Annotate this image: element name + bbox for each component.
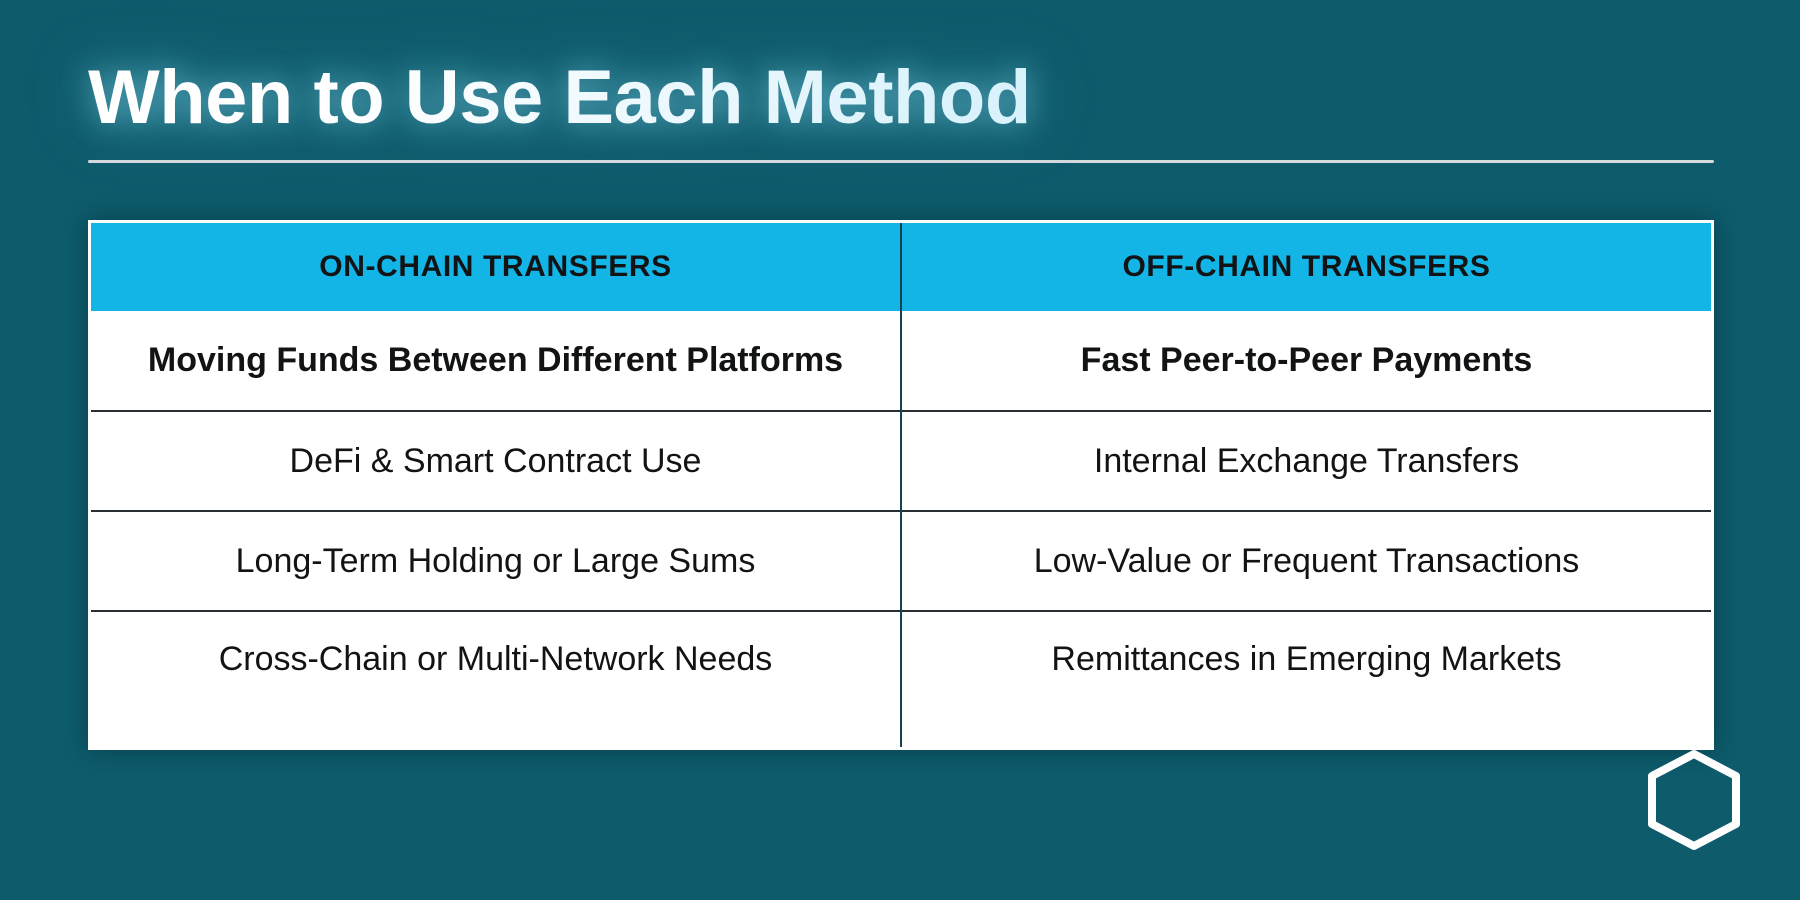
table-row: Long-Term Holding or Large Sums Low-Valu… — [91, 511, 1711, 611]
page-title: When to Use Each Method — [88, 58, 1714, 138]
cell-off-chain-3: Low-Value or Frequent Transactions — [901, 511, 1711, 611]
title-block: When to Use Each Method — [88, 58, 1714, 163]
column-header-off-chain: OFF-CHAIN TRANSFERS — [901, 223, 1711, 311]
cell-on-chain-2: DeFi & Smart Contract Use — [91, 411, 901, 511]
title-divider — [88, 160, 1714, 163]
table-row: Cross-Chain or Multi-Network Needs Remit… — [91, 611, 1711, 747]
table-row: Moving Funds Between Different Platforms… — [91, 311, 1711, 411]
slide-canvas: When to Use Each Method ON-CHAIN TRANSFE… — [0, 0, 1800, 900]
hexagon-icon — [1646, 748, 1742, 852]
table-row: DeFi & Smart Contract Use Internal Excha… — [91, 411, 1711, 511]
comparison-table-container: ON-CHAIN TRANSFERS OFF-CHAIN TRANSFERS M… — [88, 220, 1714, 750]
cell-off-chain-4: Remittances in Emerging Markets — [901, 611, 1711, 747]
table-body: Moving Funds Between Different Platforms… — [91, 311, 1711, 747]
comparison-table: ON-CHAIN TRANSFERS OFF-CHAIN TRANSFERS M… — [91, 223, 1711, 747]
table-header: ON-CHAIN TRANSFERS OFF-CHAIN TRANSFERS — [91, 223, 1711, 311]
cell-on-chain-4: Cross-Chain or Multi-Network Needs — [91, 611, 901, 747]
cell-off-chain-1: Fast Peer-to-Peer Payments — [901, 311, 1711, 411]
cell-off-chain-2: Internal Exchange Transfers — [901, 411, 1711, 511]
cell-on-chain-3: Long-Term Holding or Large Sums — [91, 511, 901, 611]
table-header-row: ON-CHAIN TRANSFERS OFF-CHAIN TRANSFERS — [91, 223, 1711, 311]
column-header-on-chain: ON-CHAIN TRANSFERS — [91, 223, 901, 311]
cell-on-chain-1: Moving Funds Between Different Platforms — [91, 311, 901, 411]
